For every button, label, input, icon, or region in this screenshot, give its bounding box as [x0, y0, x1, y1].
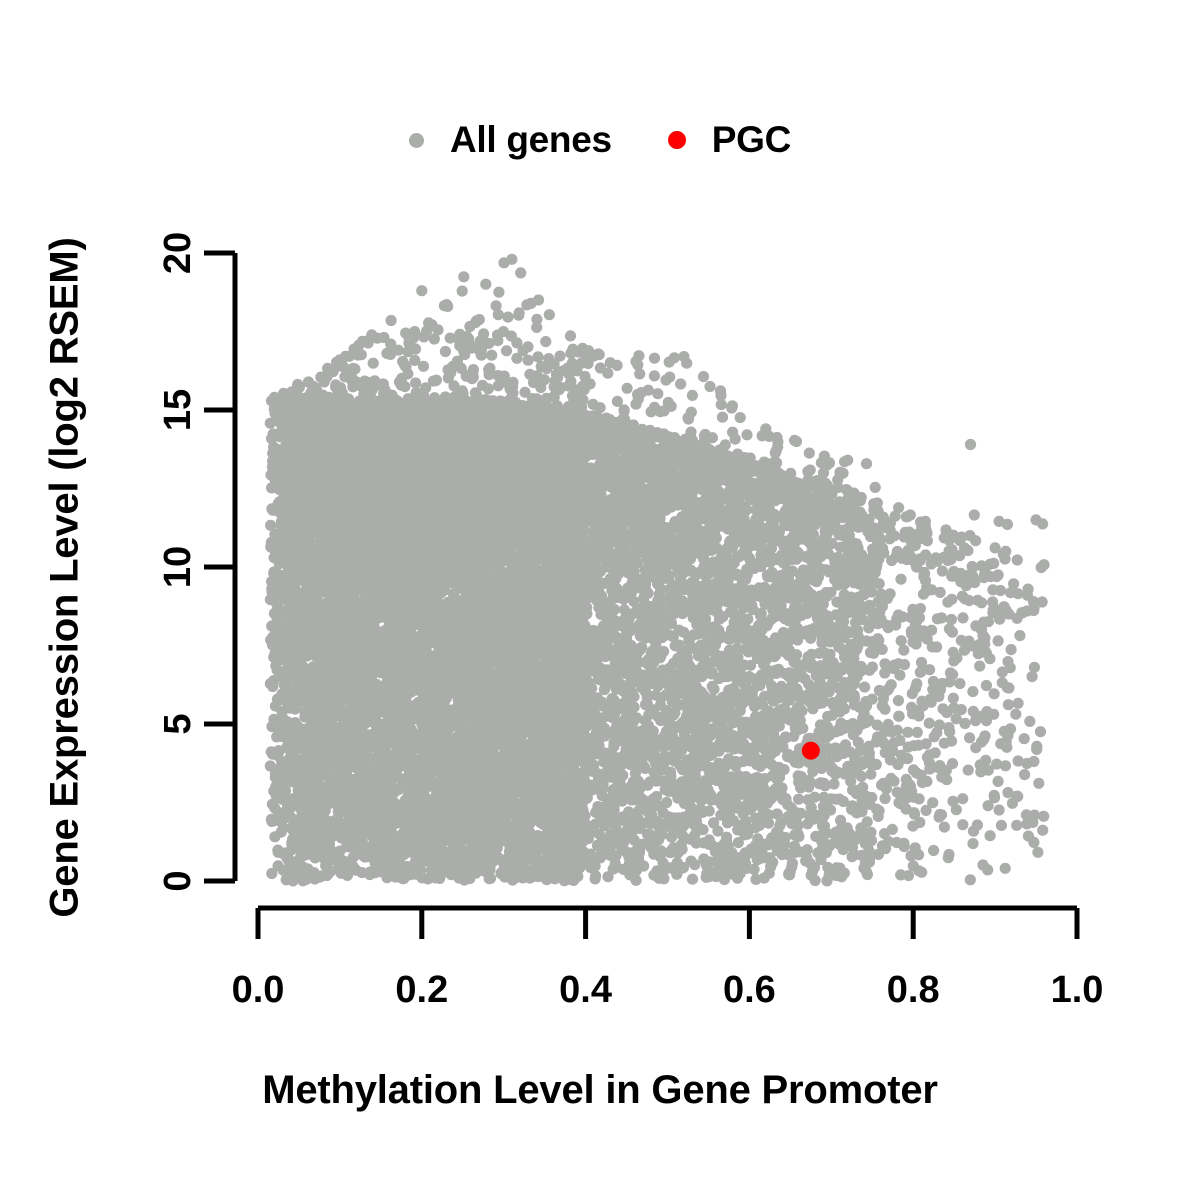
x-axis: 0.00.20.40.60.81.0: [232, 908, 1104, 1011]
x-tick-label: 0.8: [887, 969, 940, 1011]
y-axis-title: Gene Expression Level (log2 RSEM): [43, 148, 88, 1008]
x-tick-label: 0.2: [395, 969, 448, 1011]
pgc-data-point: [802, 742, 820, 760]
highlight-points-layer: [802, 742, 820, 760]
scatter-plot-figure: All genes PGC 05101520 0.00.20.40.60.81.…: [0, 0, 1200, 1200]
y-tick-label: 10: [157, 546, 199, 588]
data-points-layer: [265, 254, 1050, 887]
y-tick-label: 0: [157, 870, 199, 891]
x-tick-label: 0.6: [723, 969, 776, 1011]
x-tick-label: 0.0: [232, 969, 285, 1011]
y-tick-label: 20: [157, 232, 199, 274]
y-axis: 05101520: [157, 232, 235, 892]
x-tick-label: 1.0: [1051, 969, 1104, 1011]
y-tick-label: 15: [157, 389, 199, 431]
x-tick-label: 0.4: [559, 969, 612, 1011]
y-tick-label: 5: [157, 713, 199, 734]
x-axis-title: Methylation Level in Gene Promoter: [0, 1068, 1200, 1113]
plot-canvas: 05101520 0.00.20.40.60.81.0: [0, 0, 1200, 1200]
